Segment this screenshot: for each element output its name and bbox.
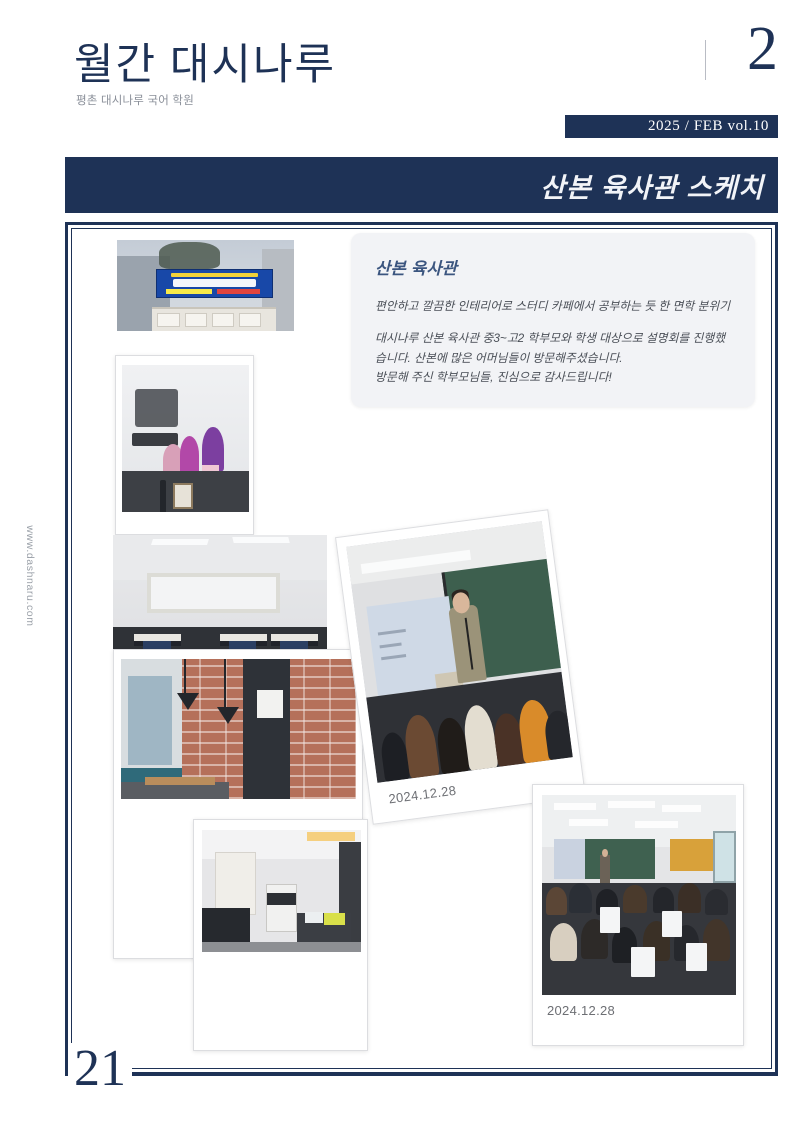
photo-academy-storefront-signage <box>117 240 294 331</box>
photo-frame-copier-room <box>193 819 368 1051</box>
issue-number: 2 <box>747 18 778 80</box>
publication-title: 월간 대시나루 <box>74 30 336 92</box>
photo-caption-lecture-speaker: 2024.12.28 <box>388 783 457 807</box>
photo-frame-audience-hall: 2024.12.28 <box>532 784 744 1046</box>
bottom-rule <box>65 1073 778 1076</box>
info-card-paragraph-2: 대시나루 산본 육사관 중3~고2 학부모와 학생 대상으로 설명회를 진행했습… <box>375 329 731 387</box>
publication-subtitle: 평촌 대시나루 국어 학원 <box>76 92 194 108</box>
website-url: www.dashnaru.com <box>24 521 36 631</box>
masthead-divider <box>705 40 706 80</box>
info-card-paragraph-1: 편안하고 깔끔한 인테리어로 스터디 카페에서 공부하는 듯 한 면학 분위기 <box>375 297 731 316</box>
info-card-title: 산본 육사관 <box>375 255 731 279</box>
photo-frame-lecture-speaker: 2024.12.28 <box>335 509 586 825</box>
photo-caption-audience-hall: 2024.12.28 <box>547 1003 615 1018</box>
photo-classroom-whiteboard <box>113 535 327 653</box>
masthead: 월간 대시나루 평촌 대시나루 국어 학원 2 2025 / FEB vol.1… <box>0 0 794 150</box>
issue-date-bar: 2025 / FEB vol.10 <box>565 115 778 138</box>
page-number: 21 <box>68 1043 132 1095</box>
info-card: 산본 육사관 편안하고 깔끔한 인테리어로 스터디 카페에서 공부하는 듯 한 … <box>351 233 755 407</box>
section-header-bar: 산본 육사관 스케치 <box>65 157 778 213</box>
photo-frame-lobby-logo-flowers <box>115 355 254 535</box>
section-header-title: 산본 육사관 스케치 <box>540 166 764 205</box>
